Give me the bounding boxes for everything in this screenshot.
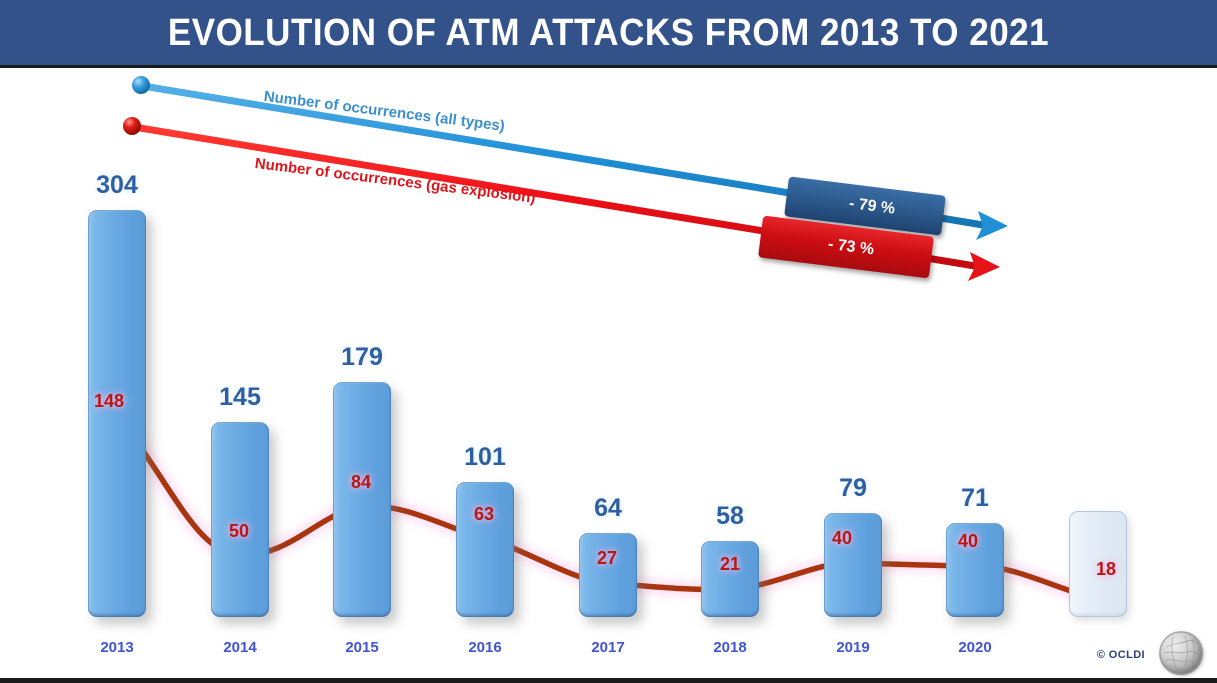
x-tick-2013: 2013 <box>77 639 157 656</box>
x-tick-2015: 2015 <box>322 639 402 656</box>
bar-value-2018: 58 <box>690 502 770 531</box>
x-tick-2016: 2016 <box>445 639 525 656</box>
x-tick-2017: 2017 <box>568 639 648 656</box>
bar-2015[interactable] <box>333 382 391 617</box>
x-tick-2019: 2019 <box>813 639 893 656</box>
bar-value-2020: 71 <box>935 484 1015 513</box>
bar-2017[interactable] <box>579 533 637 617</box>
bar-value-2017: 64 <box>568 494 648 523</box>
line-value-2014: 50 <box>209 521 269 542</box>
bar-2018[interactable] <box>701 541 759 617</box>
bar-value-2016: 101 <box>445 443 525 472</box>
globe-icon <box>1159 631 1203 675</box>
x-tick-2020: 2020 <box>935 639 1015 656</box>
line-value-2018: 21 <box>700 554 760 575</box>
bar-2014[interactable] <box>211 422 269 617</box>
bar-value-2019: 79 <box>813 474 893 503</box>
bar-value-2015: 179 <box>322 343 402 372</box>
page-header: EVOLUTION OF ATM ATTACKS FROM 2013 TO 20… <box>0 0 1217 68</box>
globe-sphere-logo <box>1159 631 1203 675</box>
line-value-2020: 40 <box>938 531 998 552</box>
line-value-2013: 148 <box>79 391 139 412</box>
copyright-credit: © OCLDI <box>1097 649 1145 661</box>
bar-2016[interactable] <box>456 482 514 617</box>
bar-value-2014: 145 <box>200 383 280 412</box>
x-tick-2014: 2014 <box>200 639 280 656</box>
page-title: EVOLUTION OF ATM ATTACKS FROM 2013 TO 20… <box>0 0 1217 68</box>
line-value-2017: 27 <box>577 548 637 569</box>
line-value-2016: 63 <box>454 504 514 525</box>
line-value-2021: 18 <box>1076 559 1136 580</box>
line-value-2019: 40 <box>812 528 872 549</box>
line-value-2015: 84 <box>331 472 391 493</box>
bar-value-2013: 304 <box>77 171 157 200</box>
x-tick-2018: 2018 <box>690 639 770 656</box>
bottom-rule <box>0 678 1217 683</box>
bar-2013[interactable] <box>88 210 146 617</box>
